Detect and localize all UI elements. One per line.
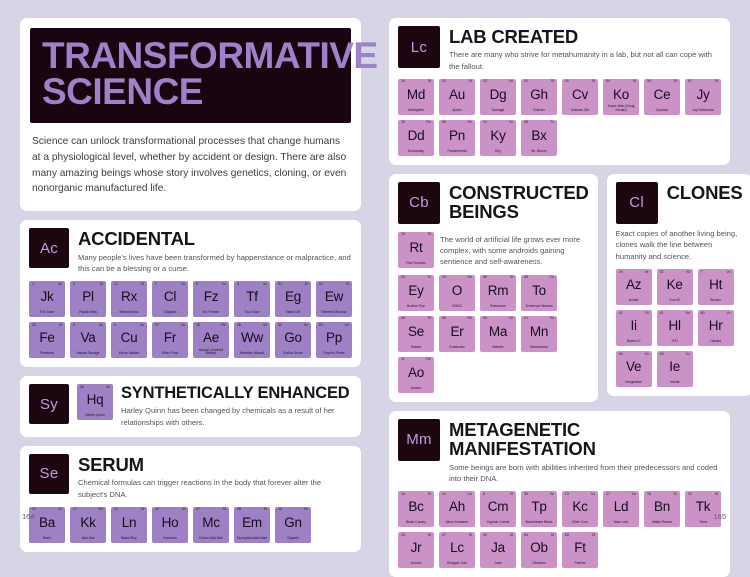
element-category: St <box>645 312 648 316</box>
element-category: St <box>674 80 677 84</box>
element-name: Red Tornado <box>400 262 433 266</box>
element-category: Vo <box>222 283 226 287</box>
element-tile[interactable]: 27VoLdMax Lord <box>603 491 639 527</box>
element-number: 43 <box>483 80 487 84</box>
element-category: St <box>141 283 144 287</box>
element-symbol: Ww <box>234 331 270 345</box>
element-symbol: Eg <box>275 290 311 304</box>
element-symbol: Ky <box>480 129 516 143</box>
element-name: Pandemonia <box>441 150 474 154</box>
element-name: Azrael <box>617 299 650 303</box>
element-tile[interactable]: 23VoKcKiller Croc <box>562 491 598 527</box>
element-tile[interactable]: 35StFeFirestorm <box>29 322 65 358</box>
element-number: 2 <box>155 283 157 287</box>
element-category: Vo <box>263 283 267 287</box>
element-symbol: Va <box>70 331 106 345</box>
element-tile[interactable]: 44StHoHourman <box>152 507 188 543</box>
element-tile[interactable]: 30ReDdDoomsday <box>398 120 434 156</box>
element-symbol: Rx <box>111 290 147 304</box>
element-category: Vo <box>726 271 730 275</box>
element-tile[interactable]: 14VoKyKey <box>480 120 516 156</box>
element-tile[interactable]: 5VoVaVandal Savage <box>70 322 106 358</box>
element-category: St <box>59 324 62 328</box>
element-name: Bizarro <box>699 299 732 303</box>
element-number: 12 <box>114 283 118 287</box>
element-category: Vo <box>509 80 513 84</box>
element-symbol: Ld <box>603 500 639 514</box>
element-symbol: Dg <box>480 88 516 102</box>
element-tile[interactable]: 4VoTfTwo-Face <box>234 281 270 317</box>
element-name: Manhunters <box>523 346 556 350</box>
element-number: 63 <box>319 324 323 328</box>
element-tile[interactable]: 62StEwElement Woman <box>316 281 352 317</box>
section-description: Chemical formulas can trigger reactions … <box>78 477 352 499</box>
element-number: 56 <box>442 121 446 125</box>
element-tile[interactable]: 63VoPpPsycho Pirate <box>316 322 352 358</box>
element-number: 49 <box>401 317 405 321</box>
element-category: St <box>264 508 267 512</box>
element-symbol: Kc <box>562 500 598 514</box>
element-number: 36 <box>524 493 528 497</box>
element-tile[interactable]: 43VoDgDamage <box>480 79 516 115</box>
element-category: St <box>592 80 595 84</box>
element-number: 51 <box>278 283 282 287</box>
element-number: 50 <box>483 276 487 280</box>
section-symbol-badge: Sy <box>29 384 69 424</box>
element-name: Firestorm <box>31 352 64 356</box>
element-tile[interactable]: 40StCvGotham Girl <box>562 79 598 115</box>
section-description: The world of artificial life grows ever … <box>440 232 589 268</box>
element-tile[interactable]: 36VoTpManchester Black <box>521 491 557 527</box>
element-number: 57 <box>196 508 200 512</box>
page-number-left: 164 <box>22 512 35 521</box>
element-category: Vo <box>58 508 62 512</box>
element-category: Vo <box>509 121 513 125</box>
element-category: Vo <box>304 508 308 512</box>
element-tile[interactable]: 17ReKkMan-Bat <box>70 507 106 543</box>
element-category: St <box>100 283 103 287</box>
element-symbol: Ah <box>439 500 475 514</box>
element-tile[interactable]: 45VoGnGigante <box>275 507 311 543</box>
element-number: 53 <box>483 534 487 538</box>
element-symbol: Ce <box>644 88 680 102</box>
element-name: Captain Comet <box>482 521 515 525</box>
element-tile[interactable]: 59StCeCyclone <box>644 79 680 115</box>
element-symbol: Hl <box>657 319 693 333</box>
element-tile[interactable]: 54StObObsidian <box>521 532 557 568</box>
element-name: Metallo <box>482 346 515 350</box>
hero-card: TRANSFORMATIVE SCIENCE Science can unloc… <box>20 18 361 211</box>
element-category: St <box>551 534 554 538</box>
element-symbol: Fz <box>193 290 229 304</box>
element-name: Tomorrow Woman <box>523 305 556 309</box>
element-name: Terra <box>687 521 720 525</box>
element-number: 58 <box>524 121 528 125</box>
element-number: 27 <box>606 493 610 497</box>
element-tile[interactable]: 6StCmCaptain Comet <box>480 491 516 527</box>
element-category: St <box>305 283 308 287</box>
section-metagenetic-manifestation: Mm METAGENETIC MANIFESTATION Some beings… <box>389 411 730 577</box>
element-tile[interactable]: 60VoHrHanato <box>698 310 734 346</box>
section-title: ACCIDENTAL <box>78 229 352 248</box>
element-tile-grid: 34StMdMidnighter33StAuApollo43VoDgDamage… <box>398 79 721 156</box>
section-header: Mm METAGENETIC MANIFESTATION Some beings… <box>398 419 721 484</box>
element-symbol: Jk <box>29 290 65 304</box>
element-name: Clayface <box>154 311 187 315</box>
element-name: Gorilla Grodd <box>277 352 310 356</box>
element-tile[interactable]: 20TxEyBrother Eye <box>398 275 434 311</box>
element-tile[interactable]: 26TxBnMister Bones <box>644 491 680 527</box>
element-category: Co <box>467 493 472 497</box>
element-tile[interactable]: 41StGhGotham <box>521 79 557 115</box>
element-tile[interactable]: 19ReOOMAC <box>439 275 475 311</box>
element-tile[interactable]: 37VoFrKiller Frost <box>152 322 188 358</box>
page-left: TRANSFORMATIVE SCIENCE Science can unloc… <box>0 0 375 533</box>
element-tile-grid: 1VoJkThe Joker3StPlPlastic Man12StRxMeta… <box>29 281 352 358</box>
element-category: St <box>428 534 431 538</box>
element-symbol: Kk <box>70 516 106 530</box>
element-symbol: Ht <box>698 278 734 292</box>
element-symbol: Gh <box>521 88 557 102</box>
element-name: Mr. Freeze <box>195 311 228 315</box>
element-tile-grid: 36VoHqHarley Quinn <box>77 384 113 420</box>
element-symbol: Pl <box>70 290 106 304</box>
element-category: St <box>428 80 431 84</box>
element-tile[interactable]: 49StSeSkeets <box>398 316 434 352</box>
section-accidental: Ac ACCIDENTAL Many people's lives have b… <box>20 220 361 367</box>
element-tile[interactable]: 13StLnBeast Boy <box>111 507 147 543</box>
element-name: Psycho Pirate <box>318 352 351 356</box>
element-category: Vo <box>181 283 185 287</box>
element-symbol: Ae <box>193 331 229 345</box>
element-number: 17 <box>73 508 77 512</box>
element-category: St <box>510 534 513 538</box>
element-category: Re <box>98 508 103 512</box>
section-symbol-badge: Se <box>29 454 69 494</box>
element-symbol: Ve <box>616 360 652 374</box>
element-tile[interactable]: 66VoVeVengeance <box>616 351 652 387</box>
element-symbol: Ja <box>480 541 516 555</box>
section-header: Ac ACCIDENTAL Many people's lives have b… <box>29 228 352 274</box>
element-category: St <box>428 233 431 237</box>
element-name: Jade <box>482 562 515 566</box>
element-symbol: To <box>521 284 557 298</box>
element-number: 44 <box>155 508 159 512</box>
element-symbol: Mc <box>193 516 229 530</box>
element-name: Killer Croc <box>564 521 597 525</box>
element-number: 15 <box>401 233 405 237</box>
section-serum: Se SERUM Chemical formulas can trigger r… <box>20 446 361 552</box>
element-category: St <box>510 493 513 497</box>
element-name: Joy Kirkamuta <box>687 109 720 113</box>
element-category: Vo <box>550 493 554 497</box>
element-tile[interactable]: 24CoAhAtom Smasher <box>439 491 475 527</box>
element-number: 21 <box>524 317 528 321</box>
element-tile[interactable]: 36VoHqHarley Quinn <box>77 384 113 420</box>
element-tile[interactable]: 3StPlPlastic Man <box>70 281 106 317</box>
element-number: 34 <box>401 80 405 84</box>
element-name: Metamorpho <box>113 311 146 315</box>
element-number: 16 <box>401 493 405 497</box>
element-category: Vo <box>181 324 185 328</box>
element-name: Manchester Black <box>523 521 556 525</box>
element-category: Vo <box>304 324 308 328</box>
section-description: Some beings are born with abilities inhe… <box>449 462 721 484</box>
element-name: Amazo (Android Brains) <box>195 349 228 357</box>
element-category: St <box>551 80 554 84</box>
element-number: 25 <box>401 534 405 538</box>
element-category: Vo <box>726 312 730 316</box>
element-name: Plastic Man <box>72 311 105 315</box>
element-number: 26 <box>647 493 651 497</box>
element-tile[interactable]: 65StFtFlatline <box>562 532 598 568</box>
element-symbol: Er <box>439 325 475 339</box>
element-name: Apollo <box>441 109 474 113</box>
element-tile[interactable]: 32StKeKon-El <box>657 269 693 305</box>
element-symbol: Jr <box>398 541 434 555</box>
element-name: Amazo <box>400 387 433 391</box>
element-category: Vo <box>550 317 554 321</box>
element-symbol: Ao <box>398 366 434 380</box>
element-symbol: Cu <box>111 331 147 345</box>
element-symbol: O <box>439 284 475 298</box>
element-number: 61 <box>660 312 664 316</box>
element-category: St <box>346 283 349 287</box>
element-number: 46 <box>237 324 241 328</box>
element-category: Re <box>467 121 472 125</box>
element-name: Vengeance <box>617 381 650 385</box>
section-clones: Cl CLONES Exact copies of another living… <box>607 174 750 396</box>
element-tile[interactable]: 46VoWwWeather Wizard <box>234 322 270 358</box>
element-tile[interactable]: 34StMdMidnighter <box>398 79 434 115</box>
section-title: CLONES <box>667 183 743 202</box>
element-number: 52 <box>278 324 282 328</box>
element-category: St <box>715 493 718 497</box>
element-name: Max Lord <box>605 521 638 525</box>
element-category: Vo <box>345 324 349 328</box>
element-number: 6 <box>483 493 485 497</box>
element-tile[interactable]: 56RePnPandemonia <box>439 120 475 156</box>
element-number: 41 <box>524 80 528 84</box>
element-tile[interactable]: 12StRxMetamorpho <box>111 281 147 317</box>
element-name: Kon-El <box>658 299 691 303</box>
element-category: St <box>141 508 144 512</box>
element-tile[interactable]: 11ReAoAmazo <box>398 357 434 393</box>
element-number: 9 <box>114 324 116 328</box>
element-tile[interactable]: 53StJaJade <box>480 532 516 568</box>
element-name: Atom Smasher <box>441 521 474 525</box>
element-number: 68 <box>660 353 664 357</box>
element-name: Gigante <box>277 537 310 541</box>
element-tile[interactable]: 15StRtRed Tornado <box>398 232 434 268</box>
element-symbol: Az <box>616 278 652 292</box>
element-category: St <box>715 80 718 84</box>
element-number: 47 <box>442 534 446 538</box>
element-tile[interactable]: 48StEmStompbloodied Man <box>234 507 270 543</box>
element-number: 48 <box>237 508 241 512</box>
element-tile[interactable]: 61VoHlH'El <box>657 310 693 346</box>
page-number-right: 165 <box>713 512 726 521</box>
element-category: Re <box>467 317 472 321</box>
element-number: 13 <box>114 508 118 512</box>
element-name: The Joker <box>31 311 64 315</box>
element-symbol: Au <box>439 88 475 102</box>
element-symbol: Lc <box>439 541 475 555</box>
element-category: St <box>633 80 636 84</box>
section-title: SERUM <box>78 455 352 474</box>
element-number: 30 <box>401 121 405 125</box>
element-category: St <box>592 534 595 538</box>
element-symbol: Bn <box>644 500 680 514</box>
element-tile-grid: 20TxEyBrother Eye19ReOOMAC50StRmRobotman… <box>398 275 589 393</box>
section-header: Sy 36VoHqHarley Quinn SYNTHETICALLY ENHA… <box>29 384 352 428</box>
element-tile[interactable]: 52VoGoGorilla Grodd <box>275 322 311 358</box>
element-number: 20 <box>401 276 405 280</box>
element-number: 66 <box>619 353 623 357</box>
element-category: Vo <box>644 353 648 357</box>
element-tile[interactable]: 58TxBxMr. Bloom <box>521 120 557 156</box>
element-tile[interactable]: 8VoFzMr. Freeze <box>193 281 229 317</box>
element-name: Weather Wizard <box>236 352 269 356</box>
element-number: 45 <box>278 508 282 512</box>
element-number: 19 <box>442 276 446 280</box>
element-number: 11 <box>401 358 405 362</box>
element-symbol: Jy <box>685 88 721 102</box>
hero-description: Science can unlock transformational proc… <box>32 134 349 197</box>
element-category: Vo <box>632 493 636 497</box>
element-tile-grid: 16StBcBlack Canary24CoAhAtom Smasher6StC… <box>398 491 721 568</box>
element-number: 7 <box>701 271 703 275</box>
element-tile[interactable]: 68VoIeInertia <box>657 351 693 387</box>
element-number: 8 <box>196 283 198 287</box>
element-tile[interactable]: 38ReAeAmazo (Android Brains) <box>193 322 229 358</box>
element-name: Super-Man (Kong Kenan) <box>605 105 638 113</box>
element-category: St <box>428 317 431 321</box>
element-number: 65 <box>565 534 569 538</box>
element-tile[interactable]: 56CoToTomorrow Woman <box>521 275 557 311</box>
section-header: Cl CLONES <box>616 182 743 224</box>
element-name: Hourman <box>154 537 187 541</box>
element-tile[interactable]: 47StLcSnapper Carr <box>439 532 475 568</box>
element-name: Bizarro II <box>617 340 650 344</box>
element-number: 56 <box>524 276 528 280</box>
element-tile[interactable]: 29VeAzAzrael <box>616 269 652 305</box>
element-number: 37 <box>155 324 159 328</box>
element-number: 29 <box>619 271 623 275</box>
element-tile[interactable]: 2VoClClayface <box>152 281 188 317</box>
element-symbol: Go <box>275 331 311 345</box>
element-category: Co <box>549 276 554 280</box>
element-name: Element Woman <box>318 311 351 315</box>
element-name: Brother Eye <box>400 305 433 309</box>
element-tile[interactable]: 28ReErEradicator <box>439 316 475 352</box>
element-name: Elasti-Girl <box>277 311 310 315</box>
element-category: Vo <box>509 317 513 321</box>
section-title: LAB CREATED <box>449 27 721 46</box>
element-name: Gotham <box>523 109 556 113</box>
element-number: 38 <box>196 324 200 328</box>
element-category: St <box>686 271 689 275</box>
element-category: St <box>182 508 185 512</box>
element-tile[interactable]: 21VoMnManhunters <box>521 316 557 352</box>
element-category: Vo <box>263 324 267 328</box>
element-symbol: Em <box>234 516 270 530</box>
element-tile[interactable]: 22StTkTerra <box>685 491 721 527</box>
element-name: Flatline <box>564 562 597 566</box>
element-number: 36 <box>80 386 84 390</box>
section-header: Lc LAB CREATED There are many who strive… <box>398 26 721 72</box>
element-tile[interactable]: 67StJyJoy Kirkamuta <box>685 79 721 115</box>
element-tile[interactable]: 42StIiBizarro II <box>616 310 652 346</box>
element-tile[interactable]: 64StKoSuper-Man (Kong Kenan) <box>603 79 639 115</box>
element-symbol: Pp <box>316 331 352 345</box>
element-name: Mr. Bloom <box>523 150 556 154</box>
section-title: SYNTHETICALLY ENHANCED <box>121 385 352 402</box>
element-number: 5 <box>73 324 75 328</box>
element-symbol: Hq <box>77 393 113 407</box>
element-symbol: Dd <box>398 129 434 143</box>
element-category: Re <box>426 358 431 362</box>
element-tile[interactable]: 50StRmRobotman <box>480 275 516 311</box>
element-tile[interactable]: 33StAuApollo <box>439 79 475 115</box>
element-symbol: Ew <box>316 290 352 304</box>
element-tile-lead: 15StRtRed Tornado <box>398 232 434 268</box>
element-symbol: Tf <box>234 290 270 304</box>
element-category: Vo <box>591 493 595 497</box>
element-symbol: Ii <box>616 319 652 333</box>
element-category: Ve <box>644 271 648 275</box>
element-symbol: Ho <box>152 516 188 530</box>
element-name: Killer Frost <box>154 352 187 356</box>
element-symbol: Tp <box>521 500 557 514</box>
element-name: Skeets <box>400 346 433 350</box>
element-tile[interactable]: 1VoJkThe Joker <box>29 281 65 317</box>
element-tile[interactable]: 57StMcDoctor Mid-Nite <box>193 507 229 543</box>
element-number: 53 <box>483 317 487 321</box>
element-symbol: Mn <box>521 325 557 339</box>
section-description: Exact copies of another living being, cl… <box>616 228 743 262</box>
element-category: Vo <box>106 386 110 390</box>
element-name: Damage <box>482 109 515 113</box>
element-tile[interactable]: 25StJrJericho <box>398 532 434 568</box>
element-name: Vandal Savage <box>72 352 105 356</box>
element-name: Stompbloodied Man <box>236 537 269 541</box>
element-symbol: Bx <box>521 129 557 143</box>
element-name: Mister Bones <box>646 521 679 525</box>
section-synthetically-enhanced: Sy 36VoHqHarley Quinn SYNTHETICALLY ENHA… <box>20 376 361 437</box>
element-tile[interactable]: 51StEgElasti-Girl <box>275 281 311 317</box>
element-symbol: Fr <box>152 331 188 345</box>
element-category: Vo <box>58 283 62 287</box>
element-tile[interactable]: 7VoHtBizarro <box>698 269 734 305</box>
element-tile[interactable]: 16StBcBlack Canary <box>398 491 434 527</box>
section-header: Cb CONSTRUCTED BEINGS <box>398 182 589 225</box>
element-number: 4 <box>237 283 239 287</box>
element-category: St <box>510 276 513 280</box>
element-category: Re <box>221 324 226 328</box>
section-constructed-beings: Cb CONSTRUCTED BEINGS 15StRtRed Tornado … <box>389 174 598 402</box>
element-number: 35 <box>32 324 36 328</box>
element-number: 62 <box>319 283 323 287</box>
hero-title-band: TRANSFORMATIVE SCIENCE <box>30 28 351 123</box>
element-tile[interactable]: 9VoCuMirror Master <box>111 322 147 358</box>
element-category: Vo <box>685 353 689 357</box>
element-tile-grid: 29VeAzAzrael32StKeKon-El7VoHtBizarro42St… <box>616 269 743 387</box>
element-category: Tx <box>673 493 677 497</box>
element-category: Re <box>467 276 472 280</box>
element-tile[interactable]: 53VoMaMetallo <box>480 316 516 352</box>
section-description: Harley Quinn has been changed by chemica… <box>121 405 352 427</box>
